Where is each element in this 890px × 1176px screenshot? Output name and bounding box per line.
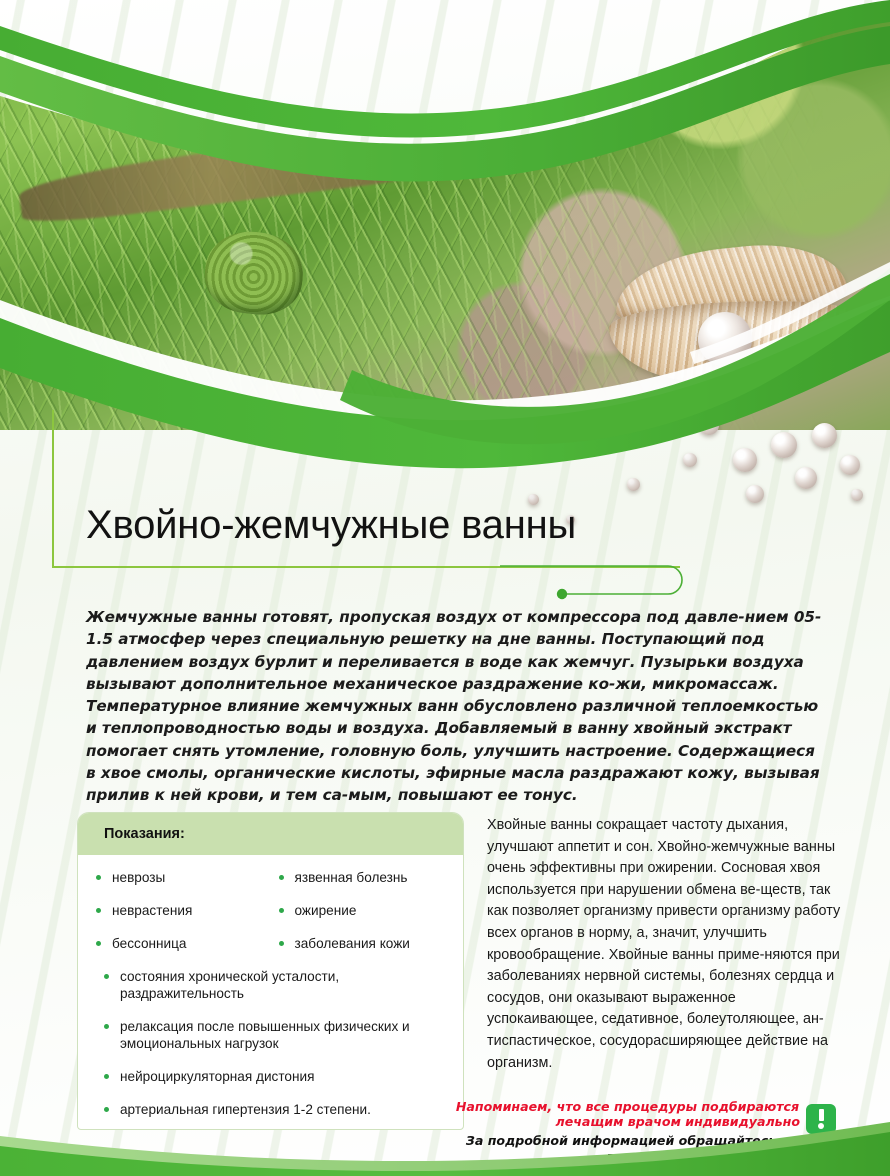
list-item: неврозы [88, 869, 271, 886]
poster-root: Хвойно-жемчужные ванны Жемчужные ванны г… [0, 0, 890, 1176]
pearl-scatter-4 [812, 423, 837, 448]
header-banner [0, 0, 890, 455]
indications-card-body: неврозы неврастения бессонница язвенная … [78, 855, 463, 1129]
indications-title: Показания: [104, 826, 185, 842]
bottom-green-wave [0, 1114, 890, 1176]
indications-list-wide: состояния хронической усталости, раздраж… [88, 968, 453, 1118]
pearl-scatter-1 [699, 415, 719, 435]
list-item: нейроциркуляторная дистония [96, 1068, 445, 1085]
pearl-scatter-11 [851, 489, 863, 501]
list-item: бессонница [88, 935, 271, 952]
title-vertical-rule [52, 410, 54, 568]
indications-list-left: неврозы неврастения бессонница [88, 869, 271, 952]
pearl-large [698, 312, 752, 366]
pearl-scatter-5 [840, 455, 860, 475]
warning-line-1: Напоминаем, что все процедуры подбираютс… [456, 1099, 799, 1114]
pearl-scatter-3 [771, 432, 797, 458]
indications-list-right: язвенная болезнь ожирение заболевания ко… [271, 869, 454, 952]
indications-card-header: Показания: [78, 813, 463, 855]
pine-photo [0, 0, 890, 430]
list-item: релаксация после повышенных физических и… [96, 1018, 445, 1052]
indications-two-columns: неврозы неврастения бессонница язвенная … [88, 869, 453, 968]
list-item: неврастения [88, 902, 271, 919]
oyster-shell [610, 248, 860, 383]
description-paragraph: Хвойные ванны сокращает частоту дыхания,… [487, 815, 842, 1074]
page-title: Хвойно-жемчужные ванны [86, 503, 576, 548]
list-item: заболевания кожи [271, 935, 454, 952]
pearl-scatter-2 [733, 448, 757, 472]
list-item: язвенная болезнь [271, 869, 454, 886]
green-hook-line-icon [500, 556, 700, 600]
pearl-scatter-9 [627, 478, 640, 491]
pearl-scatter-6 [795, 467, 817, 489]
indications-column-right: язвенная болезнь ожирение заболевания ко… [271, 869, 454, 968]
indications-card: Показания: неврозы неврастения бессонниц… [77, 812, 464, 1130]
list-item: состояния хронической усталости, раздраж… [96, 968, 445, 1002]
list-item: ожирение [271, 902, 454, 919]
indications-column-left: неврозы неврастения бессонница [88, 869, 271, 968]
pearl-scatter-7 [746, 485, 764, 503]
pearl-scatter-8 [683, 453, 697, 467]
intro-paragraph: Жемчужные ванны готовят, пропуская возду… [86, 606, 826, 807]
